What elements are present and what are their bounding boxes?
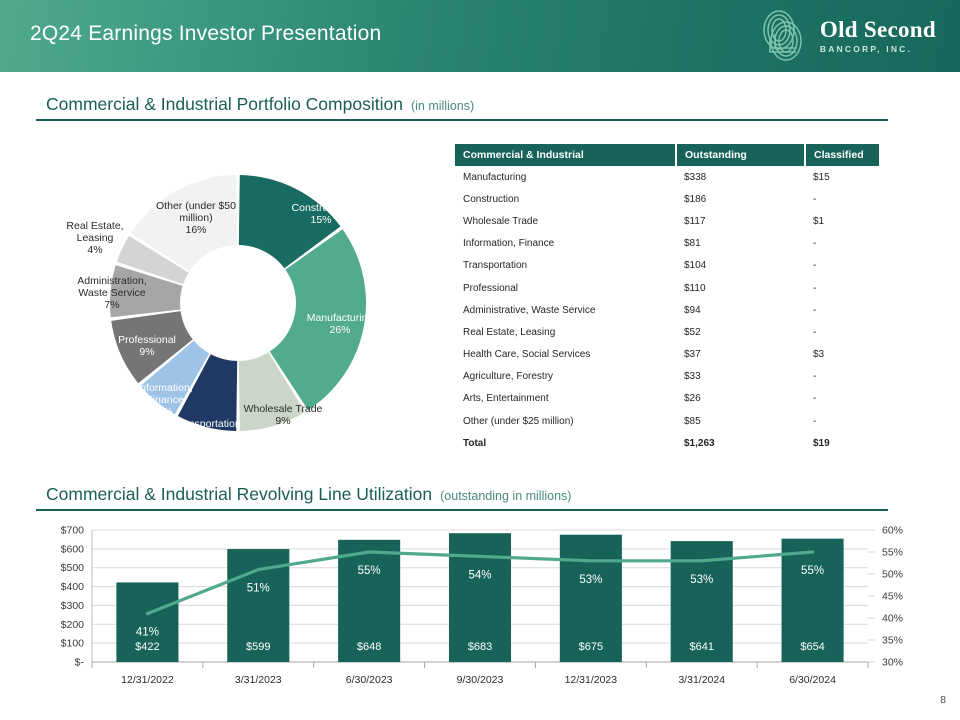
cell-classified: -	[805, 188, 879, 210]
cell-outstanding: $85	[676, 410, 805, 432]
logo-wordmark: Old Second	[820, 18, 936, 41]
y-tick-left: $500	[61, 562, 85, 574]
cell-classified: -	[805, 277, 879, 299]
cell-classified: $19	[805, 432, 879, 454]
cell-category: Manufacturing	[455, 166, 676, 188]
section1-subtitle: (in millions)	[411, 99, 474, 113]
cell-classified: -	[805, 233, 879, 255]
portfolio-donut-chart: Construction15% Manufacturing26% Wholesa…	[40, 140, 440, 465]
y-tick-right: 35%	[882, 635, 903, 647]
y-tick-right: 45%	[882, 591, 903, 603]
cell-outstanding: $104	[676, 255, 805, 277]
table-row: Professional$110-	[455, 277, 879, 299]
cell-outstanding: $338	[676, 166, 805, 188]
col-header-outstanding: Outstanding	[676, 144, 805, 166]
table-row: Health Care, Social Services$37$3	[455, 344, 879, 366]
y-axis-left-ticks: $-$100$200$300$400$500$600$700	[61, 525, 85, 669]
table-row: Agriculture, Forestry$33-	[455, 366, 879, 388]
cell-classified: -	[805, 388, 879, 410]
y-tick-right: 50%	[882, 569, 903, 581]
x-category-label: 9/30/2023	[457, 674, 504, 686]
cell-outstanding: $81	[676, 233, 805, 255]
cell-category: Real Estate, Leasing	[455, 321, 676, 343]
table-row: Administrative, Waste Service$94-	[455, 299, 879, 321]
cell-outstanding: $186	[676, 188, 805, 210]
y-tick-right: 60%	[882, 525, 903, 537]
line-value-label: 51%	[247, 583, 270, 595]
x-category-label: 6/30/2024	[789, 674, 836, 686]
logo-tagline: BANCORP, INC.	[820, 45, 936, 54]
cell-outstanding: $110	[676, 277, 805, 299]
x-category-label: 12/31/2023	[565, 674, 618, 686]
bar-value-label: $683	[468, 641, 492, 653]
donut-label-real-estate-leasing: Real Estate, Leasing4%	[54, 208, 136, 256]
bar-value-label: $422	[135, 641, 159, 653]
cell-classified: -	[805, 255, 879, 277]
table-row: Real Estate, Leasing$52-	[455, 321, 879, 343]
section2-title: Commercial & Industrial Revolving Line U…	[46, 484, 432, 505]
x-category-label: 3/31/2024	[678, 674, 725, 686]
cell-category: Health Care, Social Services	[455, 344, 676, 366]
cell-category: Arts, Entertainment	[455, 388, 676, 410]
bar-value-label: $654	[800, 641, 824, 653]
cell-outstanding: $33	[676, 366, 805, 388]
cell-category: Other (under $25 million)	[455, 410, 676, 432]
y-tick-left: $200	[61, 619, 85, 631]
y-tick-left: $600	[61, 543, 85, 555]
brand-logo: Old Second BANCORP, INC.	[756, 8, 936, 64]
line-value-label: 55%	[801, 565, 824, 577]
cell-outstanding: $1,263	[676, 432, 805, 454]
y-tick-right: 55%	[882, 547, 903, 559]
section1-divider	[36, 119, 888, 121]
cell-classified: -	[805, 410, 879, 432]
cell-category: Agriculture, Forestry	[455, 366, 676, 388]
section2-divider	[36, 509, 888, 511]
table-header-row: Commercial & Industrial Outstanding Clas…	[455, 144, 879, 166]
y-tick-left: $-	[75, 657, 85, 669]
revolving-line-utilization-chart: $-$100$200$300$400$500$600$700 30%35%40%…	[30, 522, 930, 692]
table-row: Arts, Entertainment$26-	[455, 388, 879, 410]
y-tick-left: $700	[61, 525, 85, 537]
x-category-label: 6/30/2023	[346, 674, 393, 686]
y-tick-left: $100	[61, 638, 85, 650]
cell-category: Total	[455, 432, 676, 454]
y-tick-left: $300	[61, 600, 85, 612]
cell-outstanding: $52	[676, 321, 805, 343]
col-header-classified: Classified	[805, 144, 879, 166]
x-axis-category-labels: 12/31/20223/31/20236/30/20239/30/202312/…	[92, 662, 868, 686]
line-value-label: 41%	[136, 627, 159, 639]
cell-outstanding: $37	[676, 344, 805, 366]
bar-value-label: $648	[357, 641, 381, 653]
table-row: Information, Finance$81-	[455, 233, 879, 255]
cell-classified: $3	[805, 344, 879, 366]
y-tick-left: $400	[61, 581, 85, 593]
cell-category: Construction	[455, 188, 676, 210]
cell-category: Information, Finance	[455, 233, 676, 255]
cell-outstanding: $94	[676, 299, 805, 321]
table-row: Transportation$104-	[455, 255, 879, 277]
cell-classified: $1	[805, 210, 879, 232]
y-tick-right: 30%	[882, 657, 903, 669]
page-number: 8	[940, 694, 946, 706]
slide-header-banner: 2Q24 Earnings Investor Presentation Old …	[0, 0, 960, 72]
table-row: Manufacturing$338$15	[455, 166, 879, 188]
x-category-label: 12/31/2022	[121, 674, 174, 686]
line-value-label: 54%	[468, 569, 491, 581]
y-tick-right: 40%	[882, 613, 903, 625]
cell-category: Transportation	[455, 255, 676, 277]
line-value-label: 53%	[690, 574, 713, 586]
slide: 2Q24 Earnings Investor Presentation Old …	[0, 0, 960, 720]
section1-title: Commercial & Industrial Portfolio Compos…	[46, 94, 403, 115]
line-value-label: 55%	[358, 565, 381, 577]
cell-classified: -	[805, 321, 879, 343]
page-title: 2Q24 Earnings Investor Presentation	[30, 22, 381, 46]
col-header-category: Commercial & Industrial	[455, 144, 676, 166]
section-heading-revolving-line: Commercial & Industrial Revolving Line U…	[36, 484, 888, 511]
cell-category: Wholesale Trade	[455, 210, 676, 232]
cell-classified: -	[805, 299, 879, 321]
table-row: Construction$186-	[455, 188, 879, 210]
cell-classified: -	[805, 366, 879, 388]
y-axis-right-ticks: 30%35%40%45%50%55%60%	[868, 525, 903, 669]
x-category-label: 3/31/2023	[235, 674, 282, 686]
donut-label-other: Other (under $50 million)16%	[144, 188, 248, 236]
cell-classified: $15	[805, 166, 879, 188]
section2-subtitle: (outstanding in millions)	[440, 489, 571, 503]
table-row: Wholesale Trade$117$1	[455, 210, 879, 232]
old-second-logo-icon	[756, 8, 810, 64]
bar-value-label: $675	[579, 641, 603, 653]
cell-category: Professional	[455, 277, 676, 299]
table-row: Other (under $25 million)$85-	[455, 410, 879, 432]
donut-label-information-finance: Information, Finance6%	[128, 370, 202, 418]
donut-label-administration-waste-service: Administration, Waste Service7%	[62, 263, 162, 311]
cell-category: Administrative, Waste Service	[455, 299, 676, 321]
combo-chart-svg: $-$100$200$300$400$500$600$700 30%35%40%…	[30, 522, 930, 692]
donut-label-manufacturing: Manufacturing26%	[292, 300, 388, 336]
donut-label-construction: Construction15%	[278, 190, 364, 226]
section-heading-portfolio: Commercial & Industrial Portfolio Compos…	[36, 94, 888, 121]
donut-label-professional: Professional9%	[102, 322, 192, 358]
table-total-row: Total$1,263$19	[455, 432, 879, 454]
ci-portfolio-table: Commercial & Industrial Outstanding Clas…	[455, 144, 879, 454]
cell-outstanding: $26	[676, 388, 805, 410]
bar-value-label: $641	[689, 641, 713, 653]
cell-outstanding: $117	[676, 210, 805, 232]
line-value-label: 53%	[579, 574, 602, 586]
bar-value-label: $599	[246, 641, 270, 653]
